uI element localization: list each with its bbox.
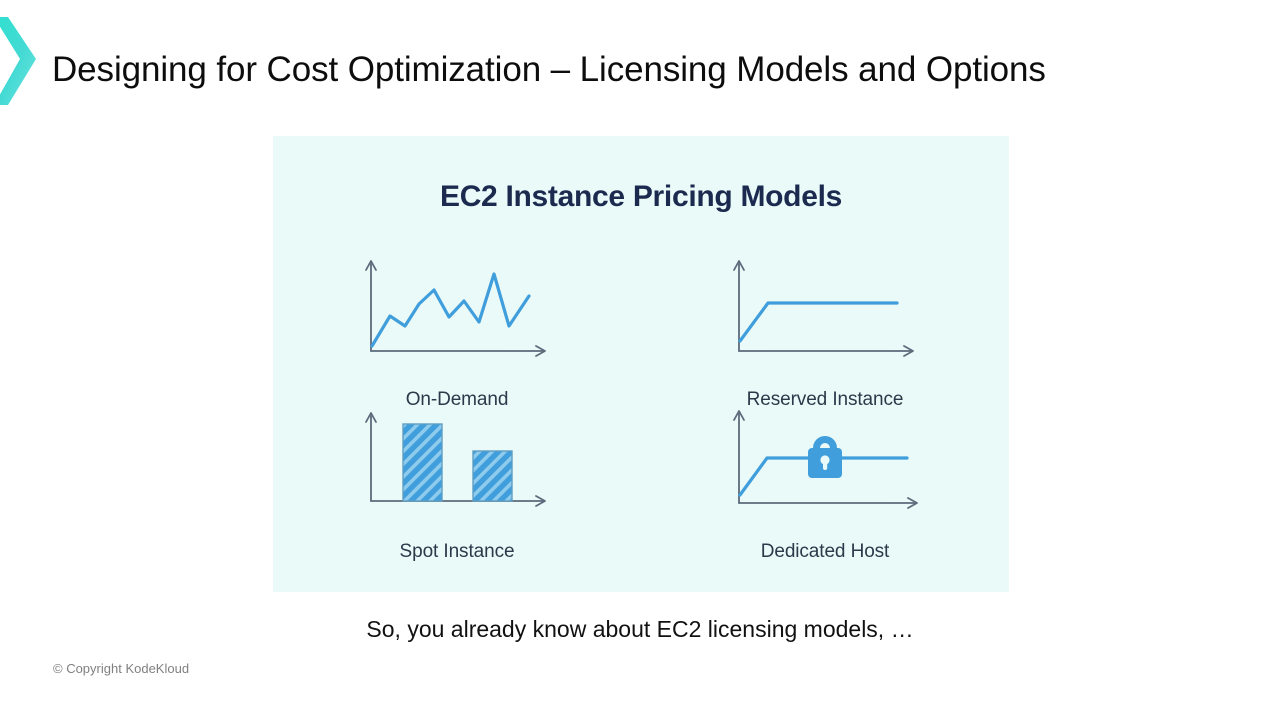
quadrant-label-spot-instance: Spot Instance — [273, 541, 641, 563]
hatched-bar-chart-icon — [357, 406, 557, 518]
quadrant-label-dedicated-host: Dedicated Host — [641, 541, 1009, 563]
quadrant-reserved-instance: Reserved Instance — [641, 254, 1009, 419]
quadrant-on-demand: On-Demand — [273, 254, 641, 419]
ramp-plateau-with-lock-icon — [725, 406, 925, 518]
zigzag-line-chart-icon — [357, 254, 557, 366]
slide-caption: So, you already know about EC2 licensing… — [0, 616, 1280, 643]
brand-chevron-icon — [0, 14, 40, 108]
copyright-footer: © Copyright KodeKloud — [53, 661, 189, 676]
quadrant-spot-instance: Spot Instance — [273, 406, 641, 571]
figure-panel: EC2 Instance Pricing Models On-Demand — [273, 136, 1009, 592]
page-title: Designing for Cost Optimization – Licens… — [52, 50, 1232, 90]
figure-heading: EC2 Instance Pricing Models — [273, 180, 1009, 214]
quadrant-dedicated-host: Dedicated Host — [641, 406, 1009, 571]
padlock-icon — [808, 436, 842, 478]
pricing-model-quadrants: On-Demand Reserved Instance — [273, 254, 1009, 584]
ramp-plateau-line-chart-icon — [725, 254, 925, 366]
